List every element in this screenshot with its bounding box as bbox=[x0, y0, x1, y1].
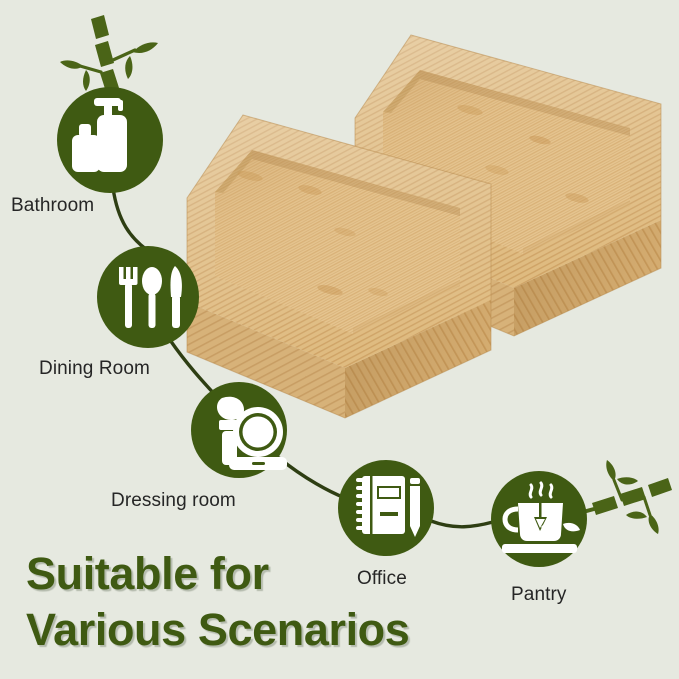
scenario-node-dressing-room[interactable] bbox=[191, 382, 287, 478]
scenario-node-pantry[interactable] bbox=[491, 471, 587, 567]
scenario-node-office[interactable] bbox=[338, 460, 434, 556]
connector-line bbox=[113, 188, 493, 527]
scenario-node-dining-room[interactable] bbox=[97, 246, 199, 348]
scenario-node-bathroom[interactable] bbox=[57, 87, 163, 193]
product-infographic: Bathroom Dining Room Dressing room Offic… bbox=[0, 0, 679, 679]
node-label-dressing-room: Dressing room bbox=[111, 491, 236, 510]
node-circle bbox=[97, 246, 199, 348]
headline-line-1: Suitable for bbox=[26, 546, 456, 602]
node-label-bathroom: Bathroom bbox=[11, 196, 94, 215]
headline: Suitable for Various Scenarios bbox=[26, 546, 456, 659]
bamboo-sprig-icon bbox=[583, 460, 672, 534]
node-label-dining-room: Dining Room bbox=[39, 359, 150, 378]
cutlery-fork-spoon-knife-icon bbox=[119, 266, 182, 328]
headline-line-2: Various Scenarios bbox=[26, 602, 456, 658]
node-label-pantry: Pantry bbox=[511, 585, 567, 604]
